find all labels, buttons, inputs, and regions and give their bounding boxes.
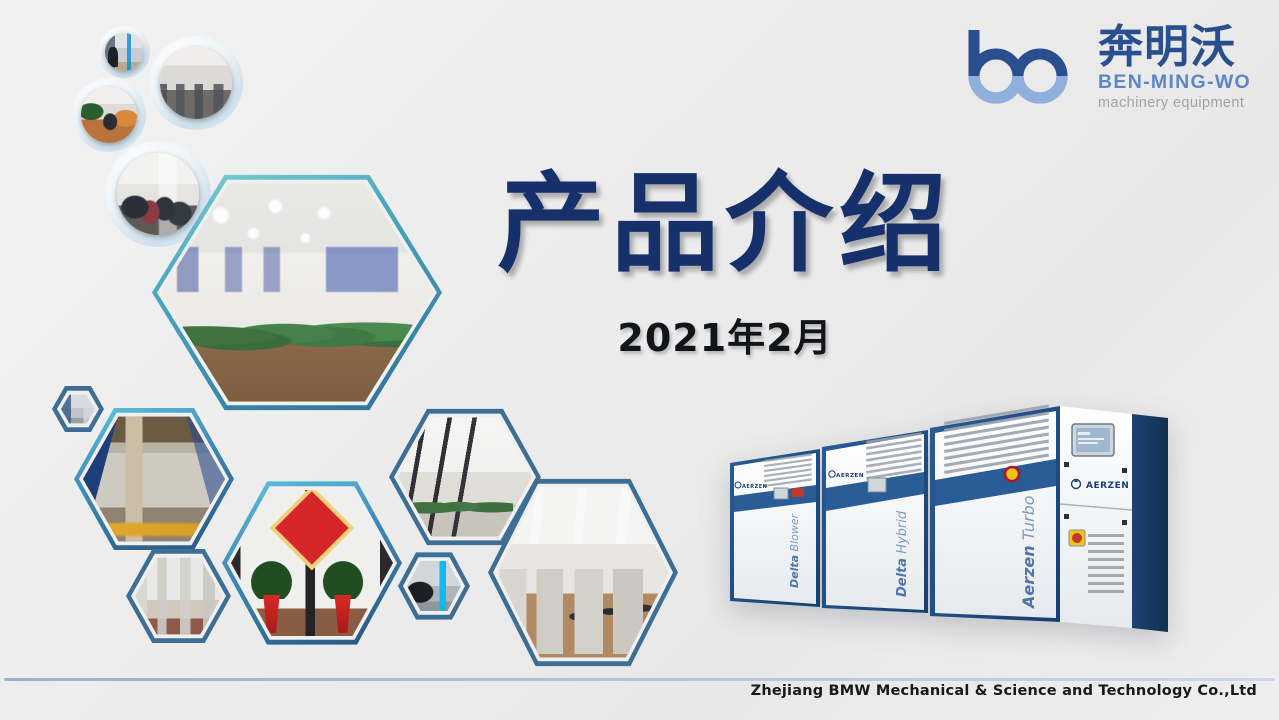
page-subtitle-date: 2021年2月 [455, 307, 995, 362]
delta-blower-unit: AERZEN Delta Blower [730, 449, 820, 607]
presentation-slide: 奔明沃 BEN-MING-WO machinery equipment 产品介绍… [0, 0, 1279, 720]
hex-elevator-lobby [52, 385, 104, 433]
svg-text:Aerzen Turbo: Aerzen Turbo [1019, 495, 1038, 610]
bubble-reception-desk-photo [81, 87, 137, 143]
hex-white-corridor [126, 547, 231, 645]
footer-company-name: Zhejiang BMW Mechanical & Science and Te… [751, 683, 1257, 699]
bubble-equipment-rack [98, 26, 150, 78]
bubble-reception-desk [72, 78, 146, 152]
logo-tagline: machinery equipment [1098, 96, 1251, 111]
hex-lobby-photo [161, 179, 433, 406]
svg-text:AERZEN: AERZEN [1086, 481, 1129, 491]
hex-blue-corridor-photo [83, 414, 225, 544]
svg-text:Delta Blower: Delta Blower [788, 512, 801, 588]
svg-text:AERZEN: AERZEN [742, 484, 767, 490]
bubble-meeting-room [149, 36, 243, 130]
hex-entrance-newyear [222, 478, 402, 648]
bubble-equipment-rack-photo [105, 33, 143, 71]
hex-security-gate [398, 551, 470, 621]
hex-blue-corridor [74, 405, 234, 553]
footer-divider [4, 678, 1275, 681]
hex-entrance-newyear-photo [231, 487, 393, 639]
aerzen-machine-lineup: AERZEN Delta Blower [716, 392, 1168, 644]
bubble-meeting-room-photo [160, 47, 232, 119]
aerzen-turbo-unit: Aerzen Turbo AERZEN [930, 405, 1168, 632]
logo-romanized-name: BEN-MING-WO [1098, 73, 1251, 93]
hex-white-corridor-photo [135, 556, 222, 636]
hex-elevator-lobby-photo [61, 394, 95, 424]
svg-text:Delta Hybrid: Delta Hybrid [895, 510, 910, 597]
hex-glass-hallway-photo [398, 415, 532, 539]
page-title: 产品介绍 [455, 168, 995, 281]
title-block: 产品介绍 2021年2月 [455, 168, 995, 362]
bo-monogram-icon [966, 24, 1088, 110]
new-year-plant-pots [231, 557, 393, 633]
company-logo: 奔明沃 BEN-MING-WO machinery equipment [966, 24, 1251, 110]
bubble-training-room-photo [117, 153, 199, 235]
hex-security-gate-photo [407, 560, 461, 612]
delta-hybrid-unit: AERZEN Delta Hybrid [822, 430, 928, 613]
svg-text:AERZEN: AERZEN [836, 473, 864, 479]
hex-open-office-photo [497, 484, 669, 661]
logo-chinese-name: 奔明沃 [1098, 24, 1251, 69]
